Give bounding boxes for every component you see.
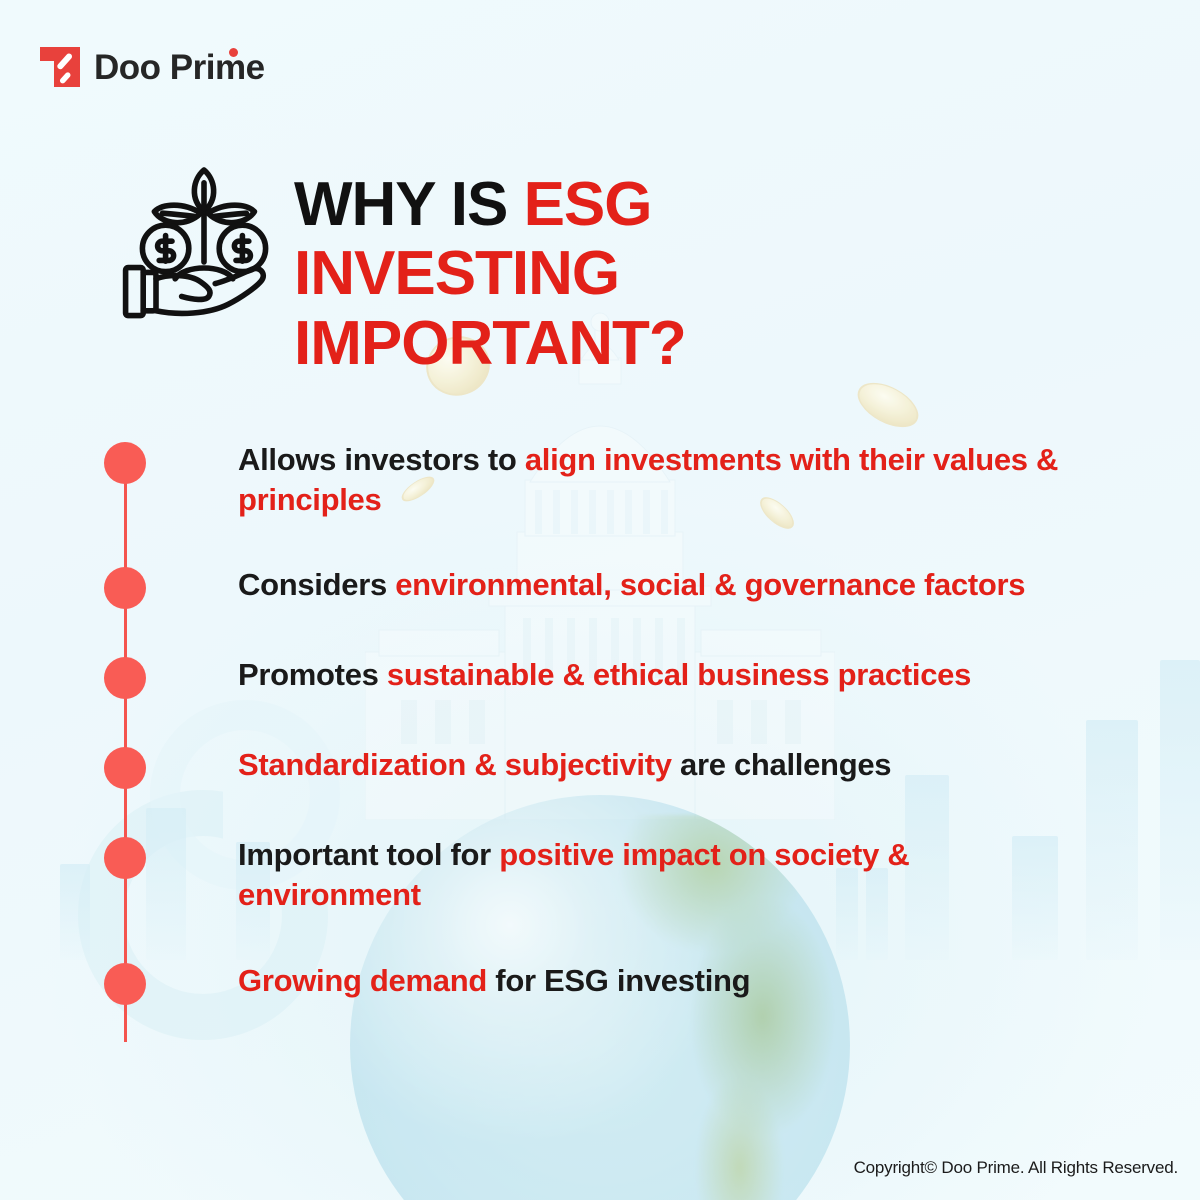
- text-span-red: environmental, social & governance facto…: [395, 567, 1025, 602]
- text-span-black: Important tool for: [238, 837, 499, 872]
- list-item: Standardization & subjectivity are chall…: [104, 745, 1164, 789]
- text-span-red: Standardization & subjectivity: [238, 747, 672, 782]
- logo-accent-dot: [229, 48, 238, 57]
- text-span-black: Promotes: [238, 657, 387, 692]
- brand-name: Doo Prime: [94, 50, 265, 85]
- text-span-black: for ESG investing: [487, 963, 750, 998]
- title-block: WHY IS ESG INVESTING IMPORTANT?: [116, 150, 974, 378]
- title-part-red-2: IMPORTANT?: [294, 309, 686, 378]
- list-item: Important tool for positive impact on so…: [104, 835, 1164, 914]
- text-span-black: Considers: [238, 567, 395, 602]
- list-item: Growing demand for ESG investing: [104, 961, 1164, 1005]
- decorative-bar: [1160, 660, 1200, 960]
- benefits-timeline: Allows investors to align investments wi…: [104, 440, 1164, 1051]
- hand-holding-plant-icon: [116, 162, 276, 322]
- bullet-dot-positive-impact: [104, 837, 146, 879]
- list-item-text-positive-impact: Important tool for positive impact on so…: [238, 835, 1068, 914]
- bullet-dot-growing-demand: [104, 963, 146, 1005]
- page-title: WHY IS ESG INVESTING IMPORTANT?: [294, 170, 974, 378]
- list-item-text-growing-demand: Growing demand for ESG investing: [238, 961, 750, 1001]
- decorative-bar: [60, 864, 90, 960]
- title-part-black: WHY IS: [294, 170, 524, 239]
- bullet-dot-align-values: [104, 442, 146, 484]
- list-item: Allows investors to align investments wi…: [104, 440, 1164, 519]
- list-item-text-align-values: Allows investors to align investments wi…: [238, 440, 1068, 519]
- bullet-dot-esg-factors: [104, 567, 146, 609]
- doo-prime-logo-icon: [40, 47, 80, 87]
- text-span-black: are challenges: [672, 747, 892, 782]
- gold-coin-decoration: [850, 374, 925, 436]
- text-span-black: Allows investors to: [238, 442, 525, 477]
- infographic-poster: Doo Prime: [0, 0, 1200, 1200]
- bullet-dot-standardization-challenge: [104, 747, 146, 789]
- text-span-red: sustainable & ethical business practices: [387, 657, 971, 692]
- list-item-text-sustainable-practices: Promotes sustainable & ethical business …: [238, 655, 971, 695]
- text-span-red: Growing demand: [238, 963, 487, 998]
- list-item: Considers environmental, social & govern…: [104, 565, 1164, 609]
- list-item-text-standardization-challenge: Standardization & subjectivity are chall…: [238, 745, 891, 785]
- brand-logo[interactable]: Doo Prime: [40, 47, 265, 87]
- list-item: Promotes sustainable & ethical business …: [104, 655, 1164, 699]
- copyright-footer: Copyright© Doo Prime. All Rights Reserve…: [854, 1158, 1178, 1178]
- bullet-dot-sustainable-practices: [104, 657, 146, 699]
- list-item-text-esg-factors: Considers environmental, social & govern…: [238, 565, 1025, 605]
